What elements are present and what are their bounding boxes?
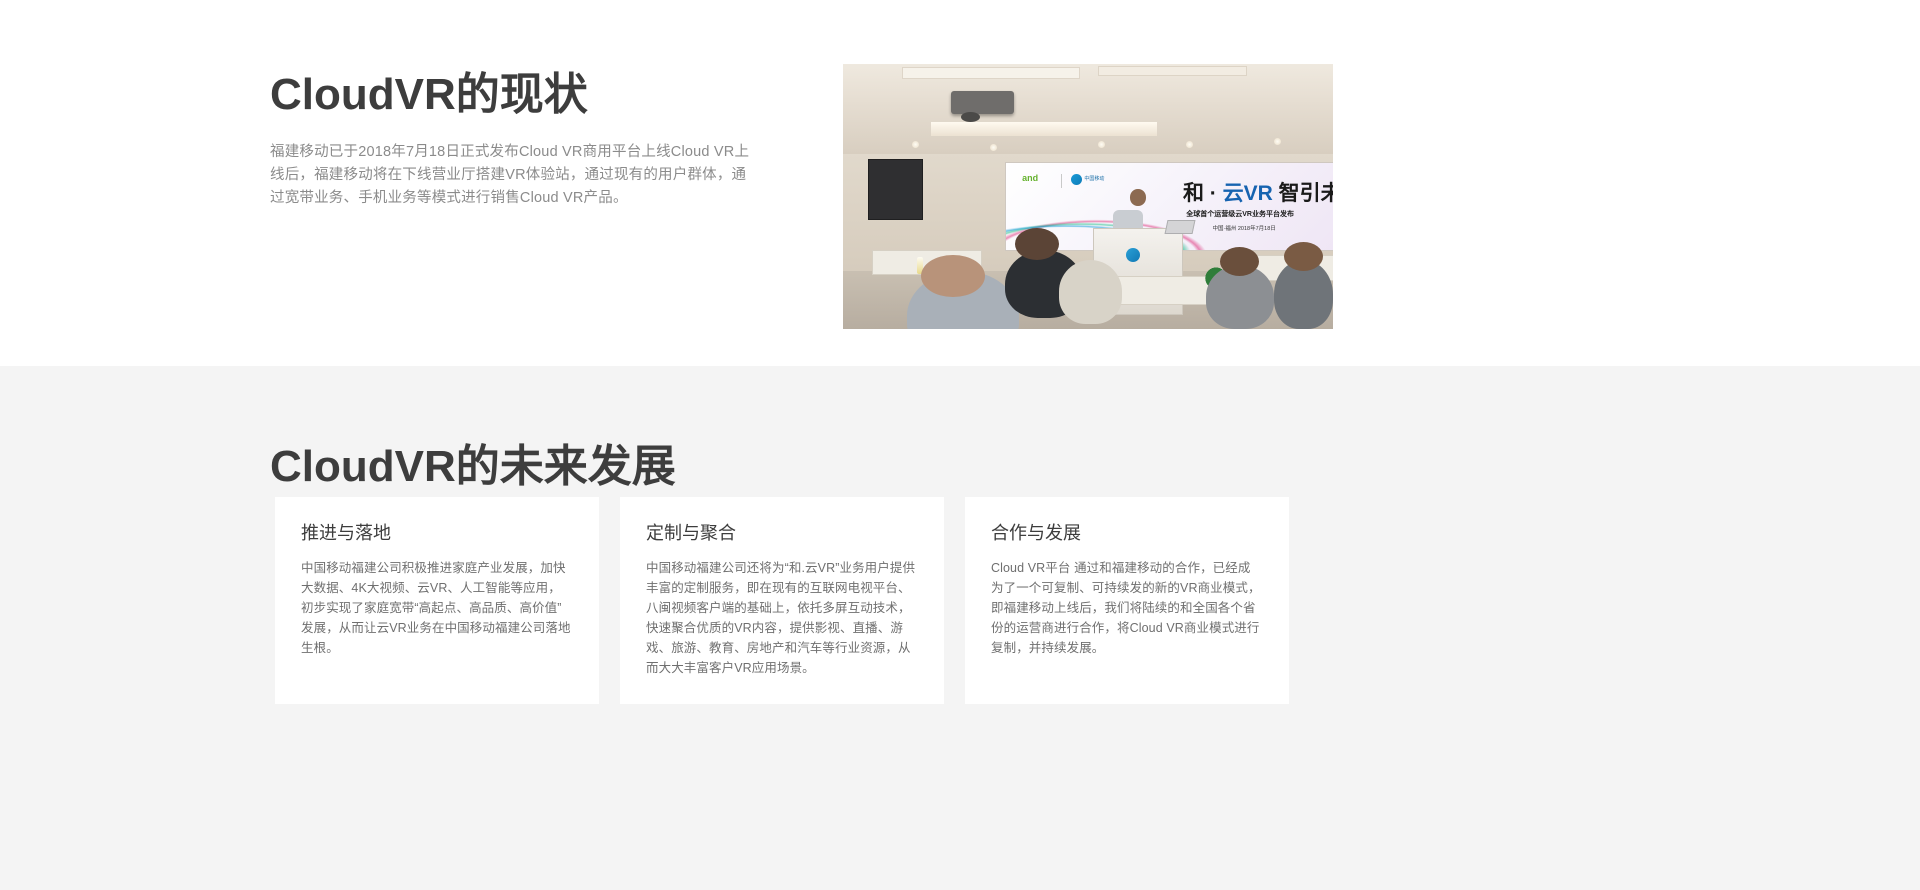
page-title-future: CloudVR的未来发展 — [270, 439, 676, 495]
conference-photo: and 中国移动 和 · 云VR 智引未来 全球首个运营级云VR业务平台发布 中… — [843, 64, 1333, 329]
photo-light-cove — [931, 122, 1156, 135]
photo-downlight — [990, 144, 997, 151]
photo-logo-divider — [1061, 174, 1062, 188]
photo-audience-head — [1015, 228, 1059, 260]
photo-downlight — [1098, 141, 1105, 148]
photo-screen-subtitle: 全球首个运营级云VR业务平台发布 — [1186, 209, 1294, 219]
card-title: 推进与落地 — [301, 521, 573, 545]
photo-screen-title-prefix: 和 · — [1183, 182, 1223, 205]
current-description-text: 福建移动已于2018年7月18日正式发布Cloud VR商用平台上线Cloud … — [270, 141, 750, 210]
photo-downlight — [912, 141, 919, 148]
future-card-promotion: 推进与落地 中国移动福建公司积极推进家庭产业发展，加快大数据、4K大视频、云VR… — [275, 497, 599, 704]
current-description: 福建移动已于2018年7月18日正式发布Cloud VR商用平台上线Cloud … — [270, 141, 750, 210]
photo-podium-logo-icon — [1126, 248, 1140, 262]
photo-audience-head — [921, 255, 985, 297]
photo-ceiling-panel-2 — [1098, 66, 1247, 76]
photo-and-logo: and — [1022, 174, 1038, 182]
photo-china-mobile-logo: 中国移动 — [1071, 174, 1104, 185]
section-cloudvr-current: CloudVR的现状 福建移动已于2018年7月18日正式发布Cloud VR商… — [0, 0, 1920, 366]
future-card-customization: 定制与聚合 中国移动福建公司还将为“和.云VR”业务用户提供丰富的定制服务，即在… — [620, 497, 944, 704]
photo-and-logo-text: and — [1022, 173, 1038, 183]
photo-projector — [951, 91, 1015, 115]
photo-presenter-head — [1130, 189, 1146, 206]
photo-downlight — [1186, 141, 1193, 148]
photo-audience-head — [1284, 242, 1323, 271]
photo-screen-title-suffix: 智引未来 — [1273, 182, 1333, 205]
future-card-list: 推进与落地 中国移动福建公司积极推进家庭产业发展，加快大数据、4K大视频、云VR… — [275, 497, 1289, 704]
photo-screen-title: 和 · 云VR 智引未来 — [1183, 177, 1333, 207]
card-body: Cloud VR平台 通过和福建移动的合作，已经成为了一个可复制、可持续发的新的… — [991, 558, 1263, 658]
china-mobile-mark-icon — [1071, 174, 1082, 185]
photo-ceiling-panel — [902, 67, 1080, 79]
page-title-current: CloudVR的现状 — [270, 67, 588, 123]
photo-screen-subtitle-2: 中国·福州 2018年7月18日 — [1213, 224, 1276, 232]
photo-wall-speaker — [868, 159, 924, 219]
card-title: 定制与聚合 — [646, 521, 918, 545]
future-card-cooperation: 合作与发展 Cloud VR平台 通过和福建移动的合作，已经成为了一个可复制、可… — [965, 497, 1289, 704]
photo-screen-title-highlight: 云VR — [1223, 182, 1273, 205]
photo-laptop — [1165, 220, 1196, 234]
photo-audience-member — [1059, 260, 1123, 324]
card-title: 合作与发展 — [991, 521, 1263, 545]
card-body: 中国移动福建公司积极推进家庭产业发展，加快大数据、4K大视频、云VR、人工智能等… — [301, 558, 573, 658]
section-cloudvr-future: CloudVR的未来发展 推进与落地 中国移动福建公司积极推进家庭产业发展，加快… — [0, 366, 1920, 890]
photo-china-mobile-logo-text: 中国移动 — [1084, 177, 1104, 182]
page-root: CloudVR的现状 福建移动已于2018年7月18日正式发布Cloud VR商… — [0, 0, 1920, 890]
card-body: 中国移动福建公司还将为“和.云VR”业务用户提供丰富的定制服务，即在现有的互联网… — [646, 558, 918, 678]
